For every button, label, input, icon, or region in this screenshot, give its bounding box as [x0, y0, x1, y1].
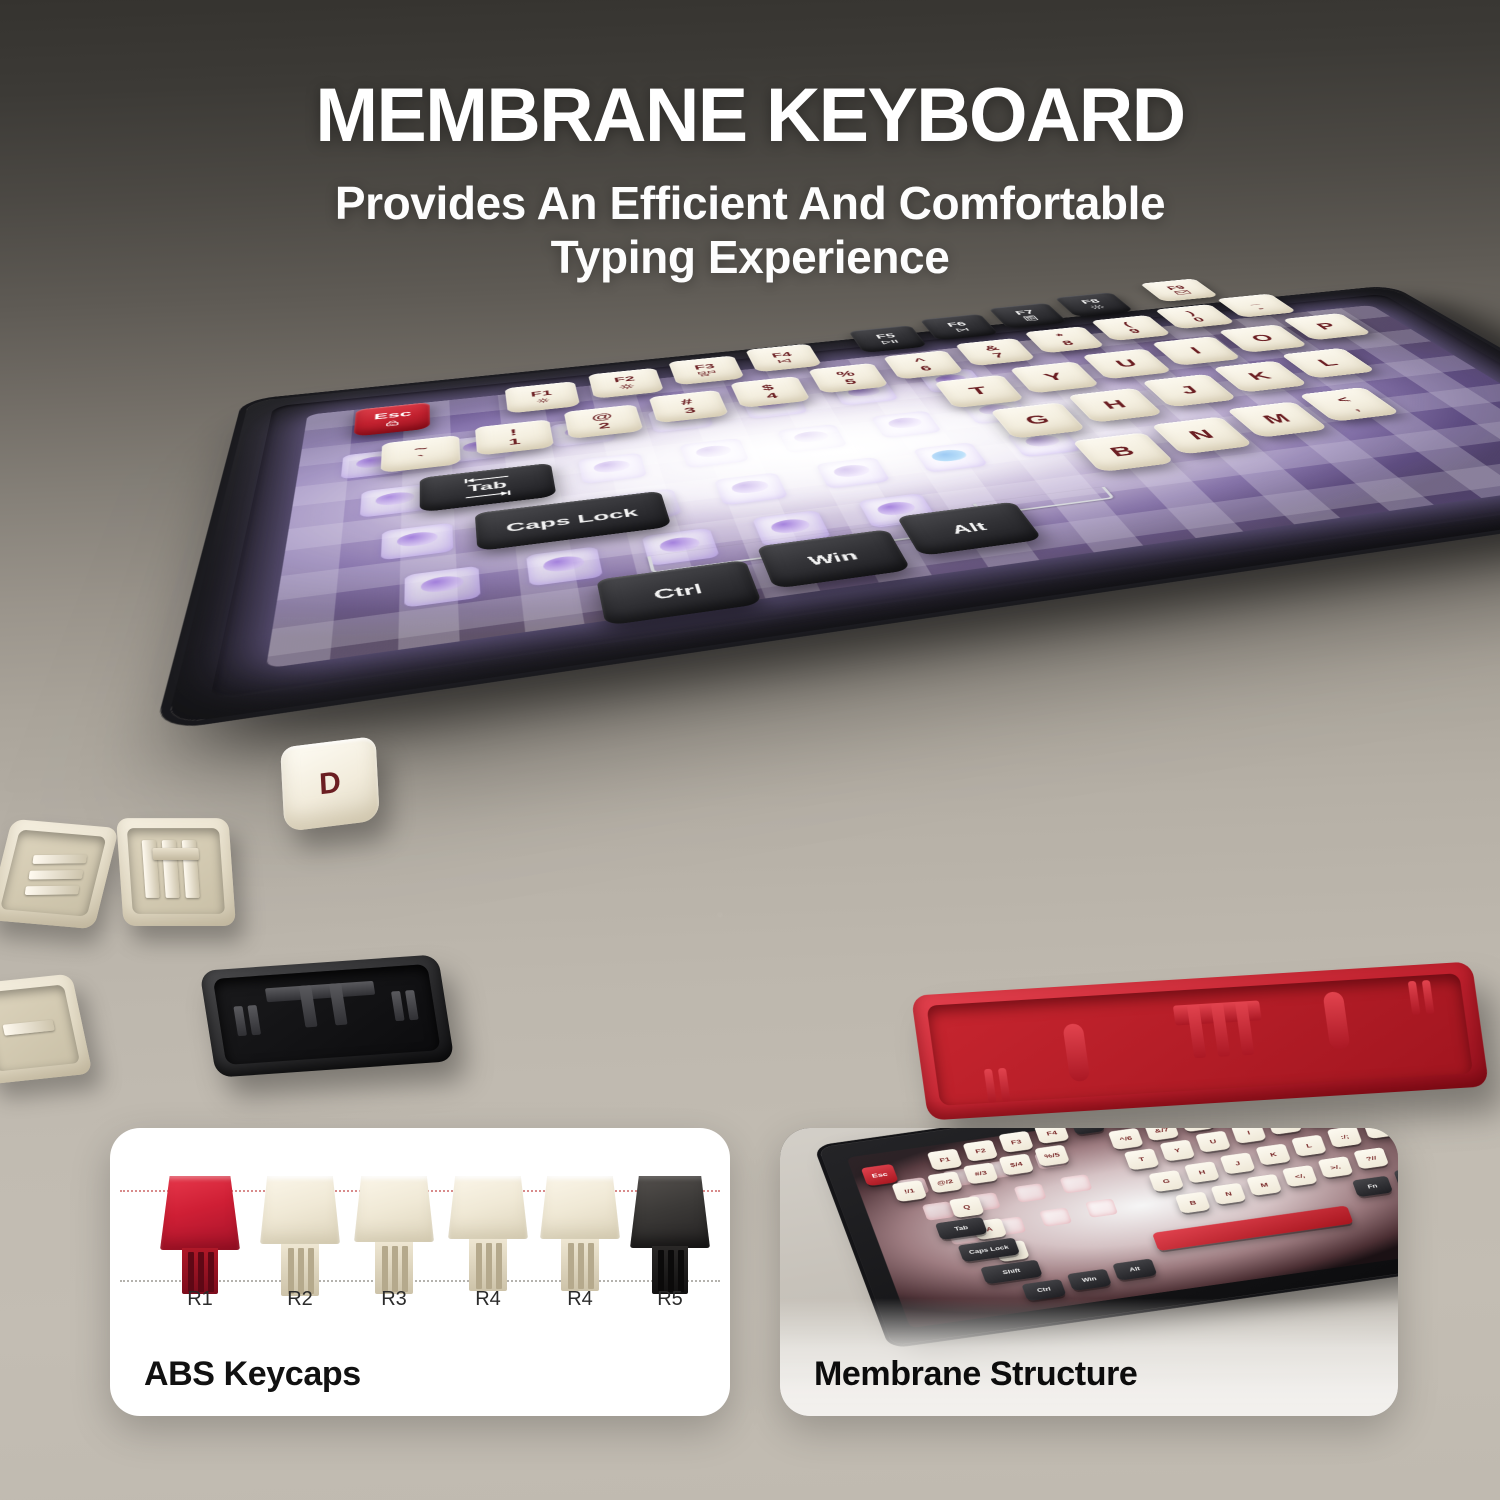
- product-image-stage: MEMBRANE KEYBOARD Provides An Efficient …: [0, 0, 1500, 1500]
- key-f7[interactable]: F7: [988, 303, 1068, 329]
- mini-key-label: @/2: [936, 1178, 954, 1186]
- mini-key-label: Caps Lock: [968, 1245, 1009, 1255]
- mini-rubber-dome: [1014, 1183, 1047, 1202]
- keycap-profile-label-r1: R1: [165, 1288, 235, 1311]
- keycap-profile-r3-top: [354, 1176, 434, 1242]
- calculator-icon: [1022, 315, 1039, 321]
- mini-key-label: "/': [1375, 1128, 1386, 1131]
- mini-key-label: :/;: [1340, 1134, 1350, 1141]
- keycap-stem-rib: [25, 886, 80, 895]
- key-base-legend: `: [417, 454, 425, 464]
- keycap-stem-cross: [152, 848, 199, 860]
- mini-key-label: J: [1234, 1160, 1241, 1166]
- key-f9[interactable]: F9: [1140, 278, 1220, 301]
- mini-key-label: Y: [1173, 1147, 1181, 1153]
- membrane-plate-exposed: [266, 305, 1500, 668]
- keycap-stem-rib: [29, 870, 84, 879]
- mini-key-label: F4: [1046, 1130, 1058, 1137]
- rubber-dome: [642, 528, 720, 566]
- mini-key-label: Win: [1081, 1276, 1097, 1283]
- rubber-dome: [714, 472, 788, 505]
- mini-key-label: Fn: [1367, 1183, 1378, 1189]
- membrane-card-caption: Membrane Structure: [814, 1355, 1137, 1394]
- rubber-dome-grid: [266, 305, 1500, 668]
- keycap-profile-r2: [260, 1176, 340, 1272]
- mini-key-label: H: [1198, 1169, 1206, 1175]
- keycap-profile-r1: [160, 1176, 240, 1272]
- keycap-profile-label-r2: R2: [265, 1288, 335, 1311]
- mini-key-label: ^/6: [1119, 1135, 1133, 1142]
- mini-key-label: L: [1305, 1143, 1312, 1149]
- keycap-profile-r5-stem: [652, 1246, 688, 1294]
- play-pause-icon: [879, 339, 900, 345]
- mini-key-label: I: [1247, 1130, 1251, 1136]
- keycap-profile-r3-stem: [375, 1242, 413, 1294]
- keycap-profile-r4a-top: [448, 1176, 528, 1239]
- mini-key-label: M: [1260, 1182, 1269, 1188]
- abs-card-caption: ABS Keycaps: [144, 1355, 361, 1394]
- keycap-profile-r4b-top: [540, 1176, 620, 1239]
- mini-key-label: Tab: [954, 1225, 969, 1232]
- mini-key-label: G: [1162, 1178, 1171, 1184]
- keycap-profile-r4b: [540, 1176, 620, 1272]
- keycap-profile-label-r3: R3: [359, 1288, 429, 1311]
- key-base-legend: -: [1254, 306, 1267, 312]
- keycap-profile-label-r4a: R4: [453, 1288, 523, 1311]
- abs-keycap-profile-diagram: R1 R2: [110, 1128, 730, 1324]
- keycap-profile-r2-top: [260, 1176, 340, 1244]
- abs-keycap-row: R1 R2: [110, 1128, 730, 1324]
- settings-gear-icon: [1087, 304, 1107, 310]
- loose-keycap-d[interactable]: D: [282, 742, 378, 826]
- mini-rubber-dome: [1059, 1174, 1092, 1193]
- mini-key-label: F2: [974, 1147, 986, 1154]
- mini-key-label: Q: [962, 1204, 971, 1210]
- mini-key-label: F1: [939, 1156, 951, 1163]
- rubber-dome: [679, 438, 749, 468]
- rubber-dome: [381, 523, 454, 561]
- mini-key-label: ?//: [1365, 1155, 1377, 1162]
- mini-key-label: F3: [1010, 1138, 1022, 1145]
- mini-key-label: &/7: [1154, 1128, 1170, 1134]
- membrane-structure-card: Esc F1 F2 F3 F4 F5 F6 !/1: [780, 1128, 1398, 1416]
- mini-key-label: Alt: [1129, 1266, 1141, 1272]
- mini-key-label: Ctrl: [1036, 1287, 1051, 1294]
- mini-key-label: U: [1209, 1138, 1217, 1144]
- loose-keycap-dark-modifier[interactable]: [199, 954, 454, 1077]
- key-f8[interactable]: F8: [1054, 292, 1134, 317]
- mini-key-escape-label: Esc: [871, 1171, 889, 1179]
- keycap-profile-r5-top: [630, 1176, 710, 1248]
- keycap-profile-r5: [630, 1176, 710, 1272]
- mini-rubber-dome: [1039, 1207, 1072, 1226]
- keycap-profile-r4a-stem: [469, 1239, 507, 1291]
- rubber-dome-blue: [913, 442, 989, 472]
- abs-keycaps-card: R1 R2: [110, 1128, 730, 1416]
- mini-key-label: !/1: [903, 1188, 915, 1195]
- keycap-profile-label-r4b: R4: [545, 1288, 615, 1311]
- mini-key-label: T: [1138, 1156, 1145, 1162]
- mini-key-label: N: [1224, 1191, 1232, 1197]
- mini-key-label: </,: [1294, 1173, 1306, 1180]
- next-track-icon: [952, 327, 972, 332]
- mini-rubber-dome: [1085, 1198, 1118, 1217]
- mini-key-label: Shift: [1002, 1268, 1021, 1275]
- mini-key-label: %/5: [1044, 1152, 1061, 1160]
- loose-keycap-inverted-stem[interactable]: [116, 818, 236, 926]
- keycap-profile-label-r5: R5: [635, 1288, 705, 1311]
- mini-key-label: >/.: [1330, 1164, 1342, 1171]
- mini-key-label: $/4: [1009, 1161, 1023, 1168]
- keycap-profile-r4a: [448, 1176, 528, 1272]
- loose-keycap-d-label: D: [318, 766, 341, 803]
- rubber-dome: [404, 566, 480, 608]
- mini-key-label: #/3: [974, 1170, 988, 1177]
- keycap-profile-r4b-stem: [561, 1239, 599, 1291]
- keycap-profile-r1-top: [160, 1176, 240, 1250]
- keycap-profile-r3: [354, 1176, 434, 1272]
- mini-key-label: K: [1269, 1151, 1277, 1157]
- keycap-stem-rib: [32, 854, 87, 863]
- mail-icon: [1173, 290, 1192, 295]
- mini-key-label: B: [1189, 1199, 1197, 1205]
- keyboard-case: Esc Fn F1 F2: [166, 287, 1500, 725]
- loose-keycap-d-top: D: [280, 736, 380, 832]
- keycap-cavity-dark: [213, 964, 441, 1065]
- previous-track-icon: [775, 358, 795, 364]
